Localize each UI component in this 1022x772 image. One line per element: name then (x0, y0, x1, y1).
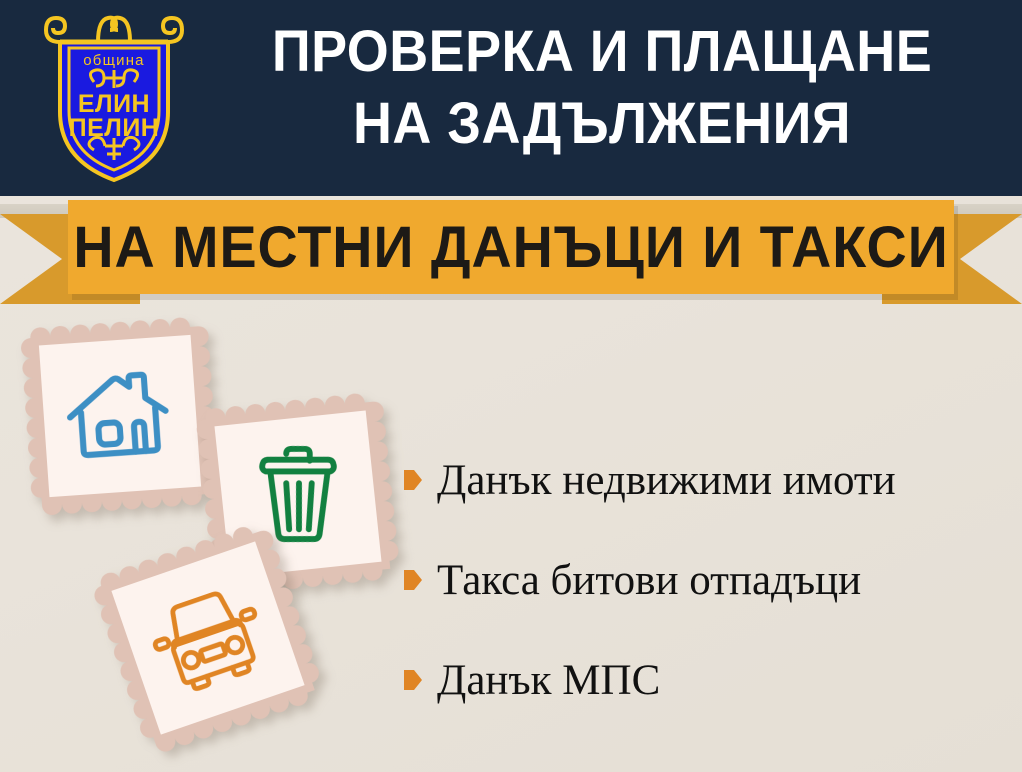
svg-text:община: община (83, 52, 144, 69)
pentagon-arrow-bullet-icon (403, 568, 423, 592)
list-item[interactable]: Данък недвижими имоти (403, 430, 1013, 530)
page-title-line-2: НА ЗАДЪЛЖЕНИЯ (224, 88, 979, 160)
poster-canvas: община ЕЛИН ПЕЛИН (0, 0, 1022, 772)
list-item-label: Данък МПС (437, 659, 660, 702)
pentagon-arrow-bullet-icon (403, 668, 423, 692)
page-title: ПРОВЕРКА И ПЛАЩАНЕ НА ЗАДЪЛЖЕНИЯ (224, 16, 979, 160)
svg-text:ПЕЛИН: ПЕЛИН (69, 114, 160, 142)
page-title-line-1: ПРОВЕРКА И ПЛАЩАНЕ (272, 19, 932, 84)
list-item[interactable]: Такса битови отпадъци (403, 530, 1013, 630)
house-icon (39, 335, 201, 497)
list-item[interactable]: Данък МПС (403, 630, 1013, 730)
pentagon-arrow-bullet-icon (403, 468, 423, 492)
tax-type-list: Данък недвижими имоти Такса битови отпад… (403, 430, 1013, 730)
header-band: община ЕЛИН ПЕЛИН (0, 0, 1022, 196)
elin-pelin-coat-of-arms-icon: община ЕЛИН ПЕЛИН (38, 8, 190, 188)
list-item-label: Такса битови отпадъци (437, 559, 861, 602)
subtitle-ribbon: НА МЕСТНИ ДАНЪЦИ И ТАКСИ (0, 196, 1022, 306)
list-item-label: Данък недвижими имоти (437, 459, 896, 502)
ribbon-label: НА МЕСТНИ ДАНЪЦИ И ТАКСИ (86, 200, 937, 294)
